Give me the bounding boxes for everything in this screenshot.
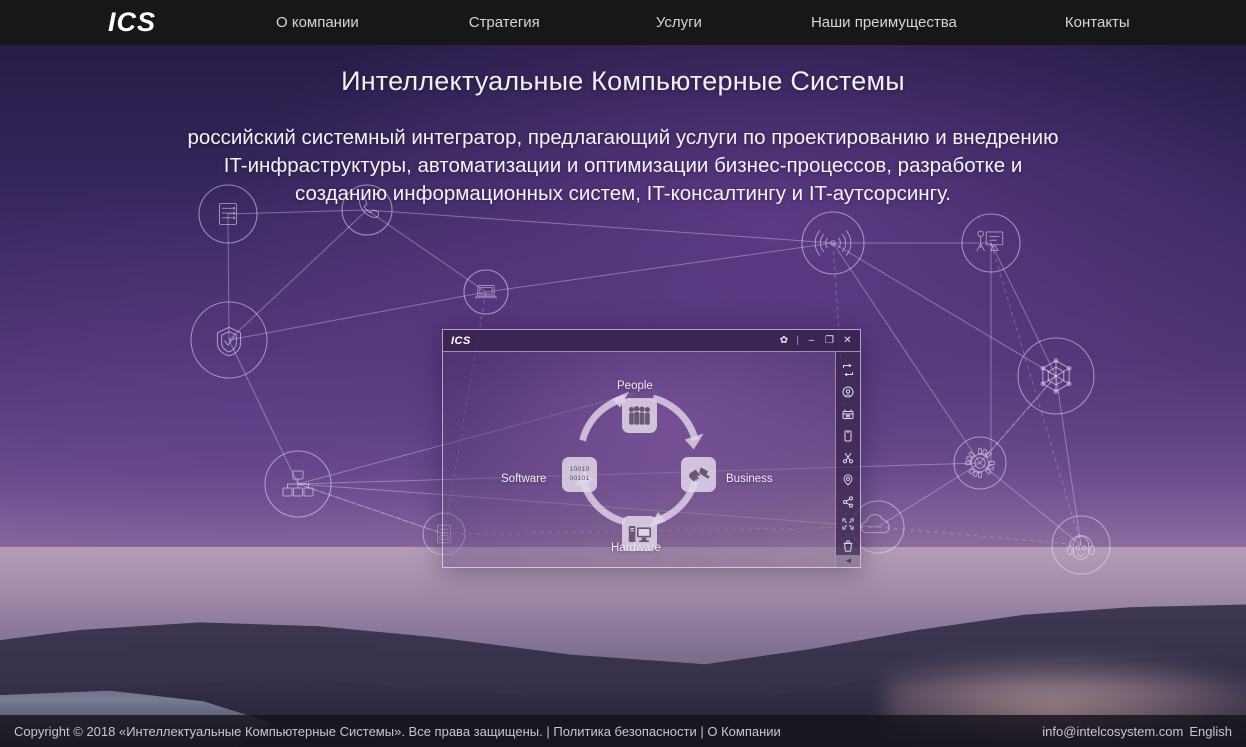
- page-title: Интеллектуальные Компьютерные Системы: [0, 66, 1246, 97]
- binary-line-2: 00101: [570, 475, 590, 483]
- footer-email-link[interactable]: info@intelcosystem.com: [1042, 724, 1183, 739]
- sync-icon[interactable]: [836, 359, 861, 381]
- app-window[interactable]: ICS ✿ | – ❐ ✕: [442, 329, 861, 568]
- footer-separator-2: |: [700, 724, 703, 739]
- fullscreen-icon[interactable]: [836, 513, 861, 535]
- cycle-node-people[interactable]: [622, 398, 657, 433]
- desktop-icon: [628, 524, 652, 544]
- cloud-icon: [861, 515, 889, 533]
- cycle-label-software: Software: [501, 473, 546, 485]
- scissors-icon[interactable]: [836, 447, 861, 469]
- cycle-label-business: Business: [726, 473, 773, 485]
- presentation-icon: [977, 231, 1003, 250]
- footer-right: info@intelcosystem.com English: [1042, 724, 1232, 739]
- archive-icon[interactable]: [836, 403, 861, 425]
- window-controls: ✿ | – ❐ ✕: [778, 335, 853, 346]
- hero-subtitle: российский системный интегратор, предлаг…: [183, 124, 1063, 208]
- tablet-icon[interactable]: [836, 425, 861, 447]
- footer-bar: Copyright © 2018 «Интеллектуальные Компь…: [0, 715, 1246, 747]
- binary-line-1: 10010: [570, 466, 590, 474]
- footer-separator-1: |: [546, 724, 549, 739]
- binary-icon: 10010 00101: [570, 466, 590, 483]
- language-switch[interactable]: English: [1189, 724, 1232, 739]
- record-icon[interactable]: [836, 381, 861, 403]
- divider: |: [796, 335, 799, 346]
- window-body: People Business: [443, 352, 860, 567]
- nav-item-about[interactable]: О компании: [274, 10, 361, 35]
- footer-link-about[interactable]: О Компании: [707, 724, 780, 739]
- cycle-node-business[interactable]: [681, 457, 716, 492]
- nav-item-strategy[interactable]: Стратегия: [467, 10, 542, 35]
- shield-check-icon: [217, 327, 240, 355]
- minimize-icon[interactable]: –: [806, 335, 817, 346]
- cycle-label-people: People: [617, 380, 653, 392]
- nav-item-contacts[interactable]: Контакты: [1063, 10, 1132, 35]
- window-canvas: People Business: [443, 352, 835, 567]
- window-logo: ICS: [451, 335, 471, 347]
- nav-item-advantages[interactable]: Наши преимущества: [809, 10, 959, 35]
- footer-link-policy[interactable]: Политика безопасности: [553, 724, 696, 739]
- cycle-label-hardware: Hardware: [611, 542, 661, 554]
- trash-icon[interactable]: [836, 535, 861, 557]
- support-headset-icon: [1068, 536, 1095, 560]
- cycle-node-software[interactable]: 10010 00101: [562, 457, 597, 492]
- gear-icon[interactable]: ✿: [778, 335, 789, 346]
- people-icon: [628, 406, 651, 425]
- window-tool-rail: ◄: [835, 352, 860, 567]
- nav-item-services[interactable]: Услуги: [654, 10, 704, 35]
- close-icon[interactable]: ✕: [842, 335, 853, 346]
- top-navigation-bar: ICS О компании Стратегия Услуги Наши пре…: [0, 0, 1246, 45]
- window-titlebar[interactable]: ICS ✿ | – ❐ ✕: [443, 330, 860, 352]
- handshake-icon: [687, 465, 711, 485]
- maximize-icon[interactable]: ❐: [824, 335, 835, 346]
- copyright-text: Copyright © 2018 «Интеллектуальные Компь…: [14, 724, 543, 739]
- site-logo[interactable]: ICS: [108, 7, 180, 38]
- main-menu: О компании Стратегия Услуги Наши преимущ…: [180, 10, 1246, 35]
- hero-section: Интеллектуальные Компьютерные Системы ро…: [0, 45, 1246, 208]
- sitemap-icon: [283, 471, 313, 496]
- footer-left: Copyright © 2018 «Интеллектуальные Компь…: [14, 724, 781, 739]
- location-pin-icon[interactable]: [836, 469, 861, 491]
- share-icon[interactable]: [836, 491, 861, 513]
- collapse-rail-button[interactable]: ◄: [836, 555, 861, 567]
